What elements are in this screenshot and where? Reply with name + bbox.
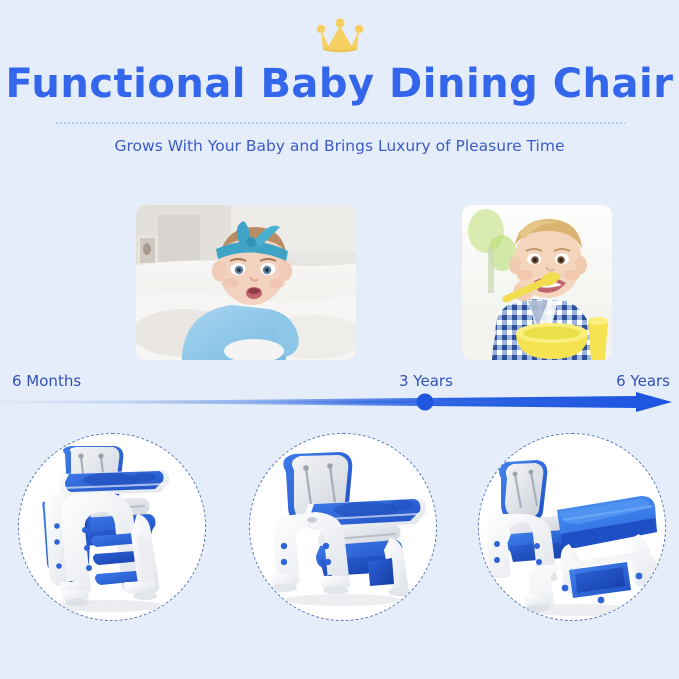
- product-circle-high-chair[interactable]: [18, 433, 206, 621]
- toddler-eating-photo: [462, 205, 612, 360]
- page-title: Functional Baby Dining Chair: [0, 58, 679, 110]
- timeline-dot-icon: [417, 394, 434, 411]
- product-circle-desk-chair[interactable]: [478, 433, 666, 621]
- product-circle-low-chair[interactable]: [249, 433, 437, 621]
- arrow-right-icon: [636, 392, 672, 412]
- timeline-track: [0, 388, 679, 412]
- crown-icon: [312, 15, 368, 61]
- page-subtitle: Grows With Your Baby and Brings Luxury o…: [0, 134, 679, 158]
- header-divider: [55, 122, 625, 124]
- baby-on-bed-photo: [136, 205, 356, 360]
- crown-icon-wrapper: [0, 16, 679, 60]
- infographic-page: Functional Baby Dining Chair Grows With …: [0, 0, 679, 679]
